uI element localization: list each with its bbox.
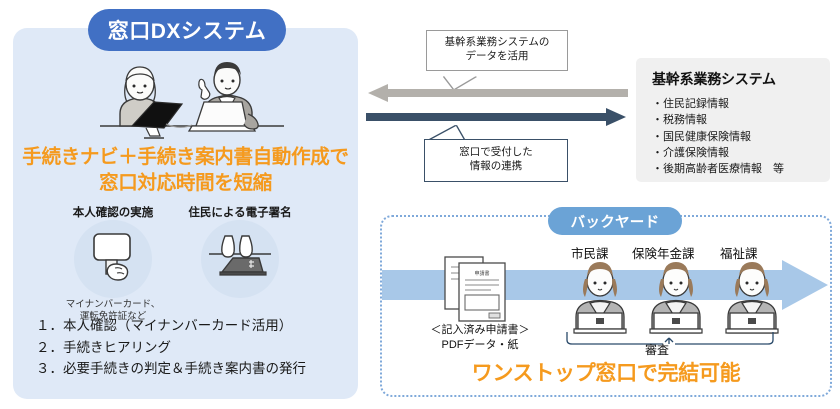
core-business-system-box: 基幹系業務システム ・住民記録情報 ・税務情報 ・国民健康保険情報 ・介護保険情… [636,58,830,182]
backyard-title-pill: バックヤード [548,207,682,235]
callout-bottom-line2: 情報の連携 [429,160,563,174]
clerk-figure-hokennenkinka [644,255,708,335]
document-form-label: 申請書 [474,270,489,277]
electronic-signature-block: 住民による電子署名 [180,204,300,298]
identity-caption-line1: マイナンバーカード、 [53,299,173,311]
front-office-headline-line1: 手続きナビ＋手続き案内書自動作成で [13,144,358,170]
core-system-item: ・住民記録情報 [652,96,830,112]
front-office-title-pill: 窓口DXシステム [88,9,286,51]
front-office-headline-line2: 窓口対応時間を短縮 [13,170,358,196]
front-office-step: １．本人確認（マイナンバーカード活用） [36,315,306,337]
clerk-figure-shiminka [568,255,632,335]
core-business-system-title: 基幹系業務システム [652,69,830,89]
front-office-step: ３．必要手続きの判定＆手続き案内書の発行 [36,358,306,380]
front-office-step: ２．手続きヒアリング [36,337,306,359]
document-caption-line1: ＜記入済み申請書＞ [400,323,560,338]
core-system-item: ・税務情報 [652,112,830,128]
counter-consultation-illustration [92,54,292,146]
data-flow-arrows: 基幹系業務システムの データを活用 窓口で受付した 情報の連携 [366,28,628,188]
filled-application-documents-icon: 申請書 [443,253,513,325]
front-office-headline: 手続きナビ＋手続き案内書自動作成で 窓口対応時間を短縮 [13,144,358,197]
id-card-reader-icon [74,220,152,298]
electronic-signature-icon [201,220,279,298]
core-system-item: ・国民健康保険情報 [652,129,830,145]
callout-core-data-utilization: 基幹系業務システムの データを活用 [426,30,568,71]
review-label: 審査 [645,341,669,358]
callout-front-info-linkage: 窓口で受付した 情報の連携 [424,139,568,182]
front-office-step-list: １．本人確認（マイナンバーカード活用） ２．手続きヒアリング ３．必要手続きの判… [36,315,306,380]
identity-verification-circle [74,220,152,298]
arrow-left-gray [366,84,628,102]
electronic-signature-title: 住民による電子署名 [180,204,300,220]
document-caption-line2: PDFデータ・紙 [400,338,560,353]
callout-top-line1: 基幹系業務システムの [431,36,563,50]
identity-verification-block: 本人確認の実施 マイナンバーカード、 運転免許証など [53,204,173,324]
front-office-title-label: 窓口DXシステム [108,15,267,45]
core-system-item: ・後期高齢者医療情報 等 [652,161,830,177]
core-system-item: ・介護保険情報 [652,145,830,161]
review-bracket [565,330,775,346]
clerk-figure-fukushika [720,255,784,335]
backyard-title-label: バックヤード [571,211,660,232]
callout-bottom-line1: 窓口で受付した [429,146,563,160]
arrow-right-navy [366,108,628,126]
backyard-headline: ワンストップ窓口で完結可能 [380,357,832,387]
document-caption: ＜記入済み申請書＞ PDFデータ・紙 [400,323,560,353]
identity-verification-title: 本人確認の実施 [53,204,173,220]
callout-top-line2: データを活用 [431,50,563,64]
electronic-signature-circle [201,220,279,298]
callout-bottom-tail [430,126,464,140]
